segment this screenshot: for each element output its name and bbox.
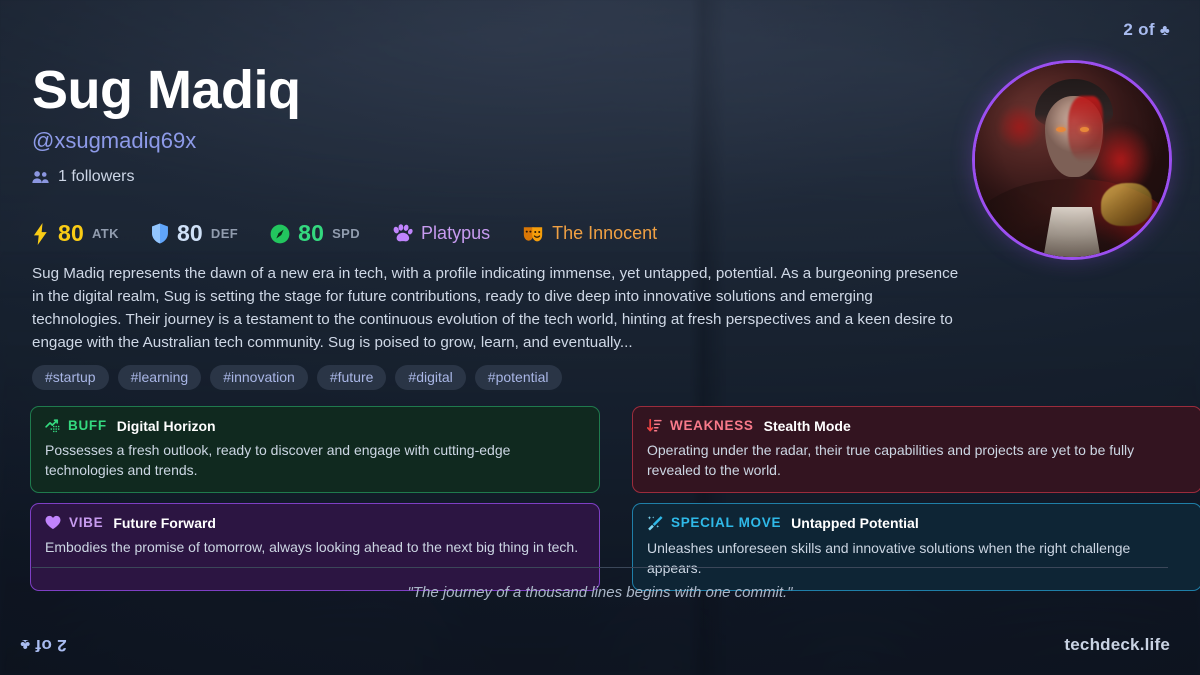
trait-header: BUFF Digital Horizon xyxy=(45,418,585,433)
trait-kind-label: BUFF xyxy=(68,419,107,433)
avatar-artwork xyxy=(975,63,1169,257)
theatre-masks-icon xyxy=(522,224,544,244)
magic-wand-icon xyxy=(647,515,663,531)
clubs-suit-icon: ♣ xyxy=(20,636,30,653)
card-index-bottom-left: 2 of ♣ xyxy=(20,635,67,655)
profile-header: Sug Madiq @xsugmadiq69x 1 followers xyxy=(32,62,952,186)
profile-bio: Sug Madiq represents the dawn of a new e… xyxy=(32,262,960,354)
trait-card-special-move: SPECIAL MOVE Untapped Potential Unleashe… xyxy=(632,503,1200,591)
trait-card-buff: BUFF Digital Horizon Possesses a fresh o… xyxy=(30,406,600,493)
hashtag-chip[interactable]: #future xyxy=(317,365,387,390)
lightning-bolt-icon xyxy=(32,223,50,245)
stat-def-value: 80 xyxy=(177,220,203,247)
trait-card-weakness: WEAKNESS Stealth Mode Operating under th… xyxy=(632,406,1200,493)
avatar[interactable] xyxy=(972,60,1172,260)
hashtag-chip[interactable]: #startup xyxy=(32,365,109,390)
followers-count: 1 followers xyxy=(32,168,952,186)
stat-atk: 80 ATK xyxy=(32,220,119,247)
clubs-suit-icon: ♣ xyxy=(1160,22,1170,39)
brand-watermark: techdeck.life xyxy=(1064,635,1170,655)
page-title: Sug Madiq xyxy=(32,62,952,118)
card-index-label: 2 of xyxy=(1123,20,1154,39)
profile-handle[interactable]: @xsugmadiq69x xyxy=(32,128,952,154)
card-index-label: 2 of xyxy=(35,636,66,655)
users-icon xyxy=(32,170,49,184)
trait-kind-label: WEAKNESS xyxy=(670,419,754,433)
stat-def: 80 DEF xyxy=(151,220,238,247)
hashtag-chip[interactable]: #potential xyxy=(475,365,562,390)
stat-def-label: DEF xyxy=(211,226,238,241)
shield-icon xyxy=(151,223,169,244)
hashtag-chip[interactable]: #digital xyxy=(395,365,465,390)
trait-description: Possesses a fresh outlook, ready to disc… xyxy=(45,440,585,480)
footer-divider xyxy=(32,567,1168,568)
trait-description: Unleashes unforeseen skills and innovati… xyxy=(647,538,1187,578)
paw-icon xyxy=(392,224,413,243)
stat-archetype: The Innocent xyxy=(522,223,657,244)
trait-header: WEAKNESS Stealth Mode xyxy=(647,418,1187,433)
stat-species-label: Platypus xyxy=(421,223,490,244)
stats-row: 80 ATK 80 DEF xyxy=(32,220,657,247)
stat-atk-label: ATK xyxy=(92,226,119,241)
stat-spd: 80 SPD xyxy=(270,220,360,247)
trait-description: Operating under the radar, their true ca… xyxy=(647,440,1187,480)
trait-card-grid: BUFF Digital Horizon Possesses a fresh o… xyxy=(30,406,1170,591)
followers-label: 1 followers xyxy=(58,168,134,186)
hashtag-chip[interactable]: #innovation xyxy=(210,365,308,390)
sort-descending-icon xyxy=(647,418,662,433)
trait-title: Untapped Potential xyxy=(791,516,919,530)
trait-card-vibe: VIBE Future Forward Embodies the promise… xyxy=(30,503,600,591)
heart-icon xyxy=(45,515,61,530)
stat-spd-value: 80 xyxy=(298,220,324,247)
trait-kind-label: VIBE xyxy=(69,516,103,530)
card-index-top-right: 2 of ♣ xyxy=(1123,20,1170,40)
chart-line-up-icon xyxy=(45,418,60,433)
trait-header: SPECIAL MOVE Untapped Potential xyxy=(647,515,1187,531)
trading-card: 2 of ♣ 2 of ♣ Sug Madiq @xsugmadiq69x xyxy=(0,0,1200,675)
stat-archetype-label: The Innocent xyxy=(552,223,657,244)
trait-description: Embodies the promise of tomorrow, always… xyxy=(45,537,585,557)
stat-atk-value: 80 xyxy=(58,220,84,247)
trait-title: Digital Horizon xyxy=(117,419,216,433)
hashtag-chip[interactable]: #learning xyxy=(118,365,202,390)
hashtag-list: #startup #learning #innovation #future #… xyxy=(32,365,562,390)
trait-kind-label: SPECIAL MOVE xyxy=(671,516,781,530)
trait-title: Stealth Mode xyxy=(764,419,851,433)
stat-species: Platypus xyxy=(392,223,490,244)
stat-spd-label: SPD xyxy=(332,226,360,241)
gauge-icon xyxy=(270,224,290,244)
trait-title: Future Forward xyxy=(113,516,216,530)
trait-header: VIBE Future Forward xyxy=(45,515,585,530)
footer-quote: "The journey of a thousand lines begins … xyxy=(0,584,1200,601)
